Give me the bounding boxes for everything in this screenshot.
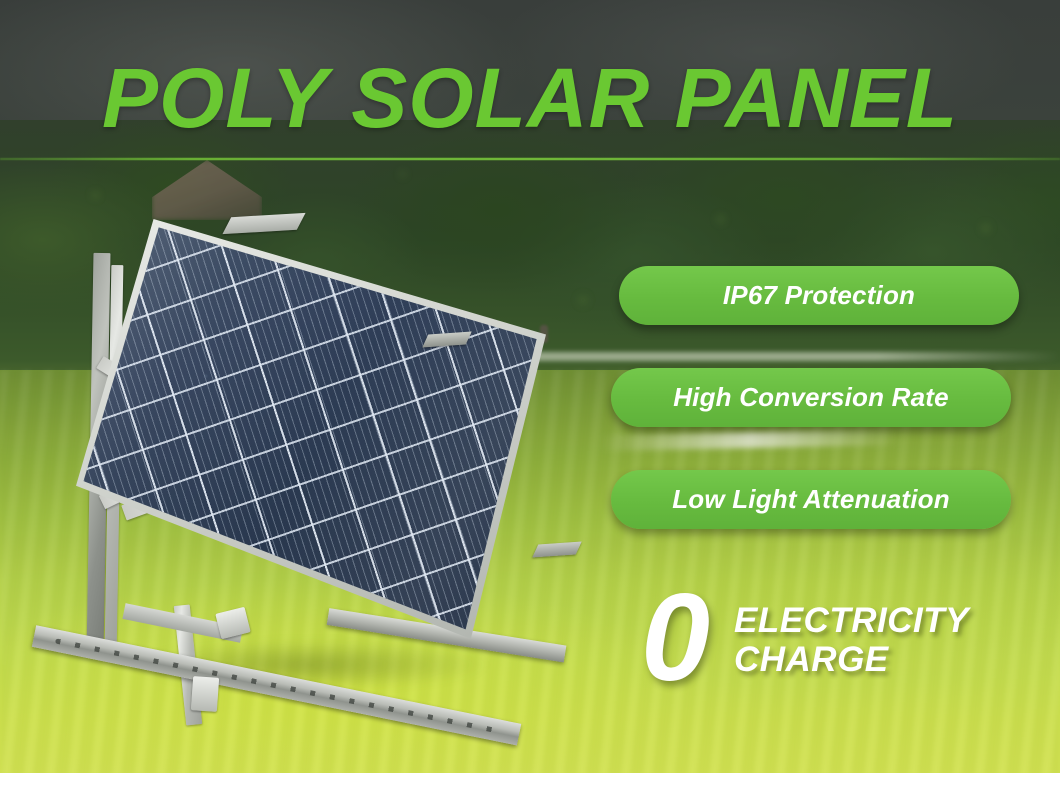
feature-pill-label: IP67 Protection	[723, 280, 915, 311]
zero-caption-line-2: CHARGE	[734, 640, 969, 679]
stand-hinge-clamp-middle	[215, 607, 250, 639]
stand-hinge-clamp-bottom	[191, 676, 219, 712]
bottom-white-band	[0, 773, 1060, 790]
product-image-solar-panel	[28, 205, 608, 710]
zero-electricity-charge-callout: 0 ELECTRICITY CHARGE	[641, 585, 1041, 695]
feature-pill-ip67-protection[interactable]: IP67 Protection	[619, 266, 1019, 325]
promo-banner: POLY SOLAR PANEL	[0, 0, 1060, 790]
feature-pill-label: Low Light Attenuation	[672, 484, 950, 515]
feature-pill-label: High Conversion Rate	[673, 382, 949, 413]
zero-value: 0	[641, 586, 710, 690]
headline-divider-rule	[0, 158, 1060, 160]
page-title: POLY SOLAR PANEL	[0, 52, 1060, 144]
feature-pill-low-light-attenuation[interactable]: Low Light Attenuation	[611, 470, 1011, 529]
zero-caption-line-1: ELECTRICITY	[734, 601, 969, 640]
zero-caption: ELECTRICITY CHARGE	[734, 601, 969, 679]
feature-list: IP67 Protection High Conversion Rate Low…	[611, 266, 1013, 529]
feature-pill-high-conversion-rate[interactable]: High Conversion Rate	[611, 368, 1011, 427]
